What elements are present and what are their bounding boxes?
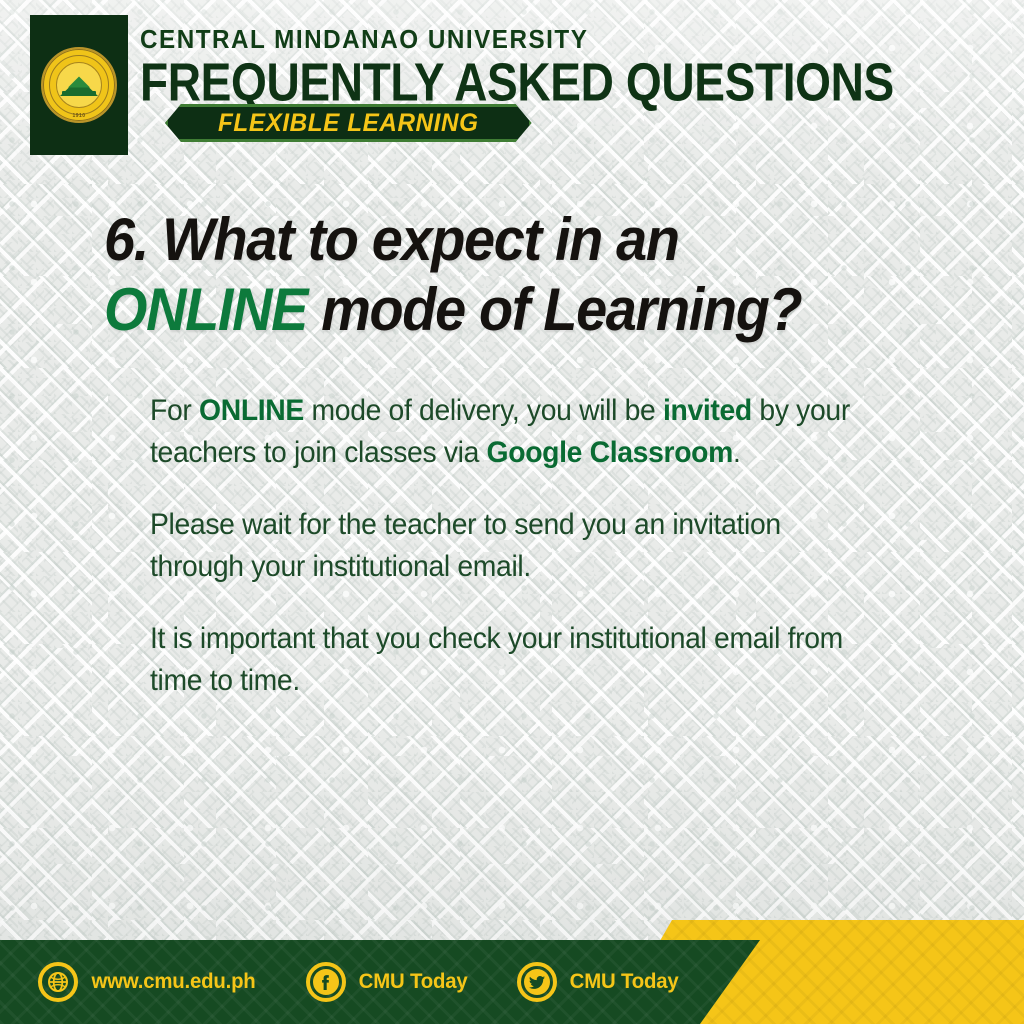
paragraph-2: Please wait for the teacher to send you … bbox=[150, 504, 880, 589]
website-label: www.cmu.edu.ph bbox=[92, 970, 256, 994]
footer-link-twitter[interactable]: CMU Today bbox=[517, 962, 680, 1002]
footer-link-facebook[interactable]: CMU Today bbox=[306, 962, 469, 1002]
logo-panel: 1910 bbox=[30, 15, 128, 155]
p1-bold-invited: invited bbox=[663, 394, 752, 427]
cmu-seal-icon: 1910 bbox=[41, 47, 117, 123]
seal-mountain-peak-icon bbox=[68, 77, 90, 88]
university-name: CENTRAL MINDANAO UNIVERSITY bbox=[140, 26, 886, 55]
seal-inner-disc bbox=[56, 62, 102, 108]
globe-icon-ring bbox=[38, 962, 78, 1002]
question-line-2-rest: mode of Learning? bbox=[321, 276, 801, 343]
footer-social-row: www.cmu.edu.ph CMU Today CMU Today bbox=[38, 962, 728, 1002]
p1-text-2: mode of delivery, you will be bbox=[304, 394, 663, 427]
p1-bold-google-classroom: Google Classroom bbox=[487, 436, 733, 469]
page-title: FREQUENTLY ASKED QUESTIONS bbox=[140, 57, 894, 111]
p1-text-1: For bbox=[150, 394, 199, 427]
seal-base-bar bbox=[62, 91, 96, 95]
flexible-learning-label: FLEXIBLE LEARNING bbox=[218, 109, 478, 138]
paragraph-3: It is important that you check your inst… bbox=[150, 618, 880, 703]
paragraph-1: For ONLINE mode of delivery, you will be… bbox=[150, 390, 880, 475]
question-line-2: ONLINE mode of Learning? bbox=[104, 275, 895, 345]
globe-icon bbox=[38, 962, 78, 1002]
header-text-block: CENTRAL MINDANAO UNIVERSITY FREQUENTLY A… bbox=[140, 26, 925, 105]
question-highlight: ONLINE bbox=[104, 276, 307, 343]
twitter-icon bbox=[517, 962, 557, 1002]
faq-poster: 1910 CENTRAL MINDANAO UNIVERSITY FREQUEN… bbox=[0, 0, 1024, 1024]
question-heading: 6. What to expect in an ONLINE mode of L… bbox=[104, 205, 895, 345]
body-content: For ONLINE mode of delivery, you will be… bbox=[150, 390, 910, 732]
twitter-label: CMU Today bbox=[570, 970, 679, 994]
facebook-icon bbox=[306, 962, 346, 1002]
poster-header: 1910 CENTRAL MINDANAO UNIVERSITY FREQUEN… bbox=[0, 0, 1024, 165]
question-line-1: 6. What to expect in an bbox=[104, 206, 679, 273]
footer-link-website[interactable]: www.cmu.edu.ph bbox=[38, 962, 258, 1002]
facebook-label: CMU Today bbox=[359, 970, 468, 994]
twitter-icon-ring bbox=[517, 962, 557, 1002]
p1-bold-online: ONLINE bbox=[199, 394, 304, 427]
flexible-learning-banner: FLEXIBLE LEARNING bbox=[165, 104, 532, 142]
p1-text-4: . bbox=[733, 436, 741, 469]
facebook-icon-ring bbox=[306, 962, 346, 1002]
seal-year: 1910 bbox=[72, 113, 85, 119]
